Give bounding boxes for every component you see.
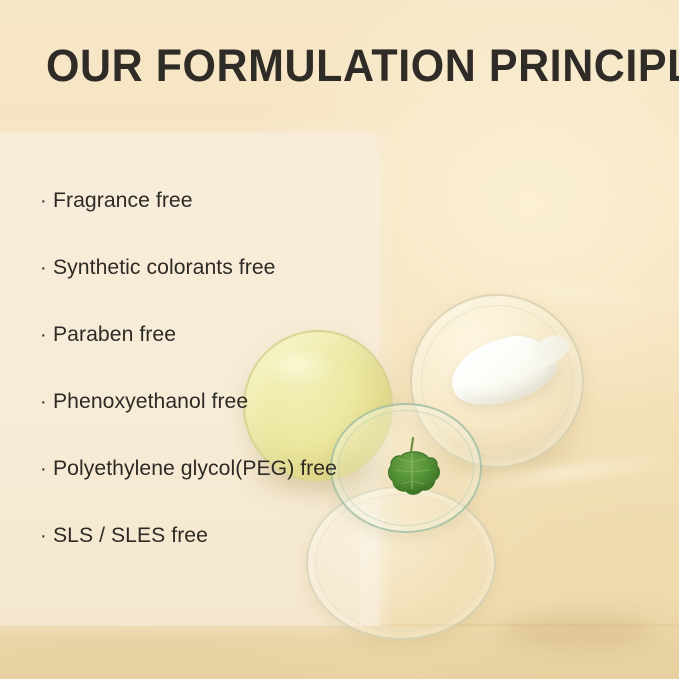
list-item: · Fragrance free: [40, 188, 380, 255]
principles-list: · Fragrance free · Synthetic colorants f…: [40, 188, 380, 590]
list-item: · SLS / SLES free: [40, 523, 380, 590]
principle-label: Synthetic colorants free: [53, 255, 275, 280]
page-title: OUR FORMULATION PRINCIPLES: [46, 40, 679, 92]
principle-label: Phenoxyethanol free: [53, 389, 248, 414]
bullet-icon: ·: [40, 191, 53, 211]
list-item: · Paraben free: [40, 322, 380, 389]
bullet-icon: ·: [40, 392, 53, 412]
principle-label: Fragrance free: [53, 188, 193, 213]
bullet-icon: ·: [40, 459, 53, 479]
formulation-principles-graphic: OUR FORMULATION PRINCIPLES · Fragrance f…: [0, 0, 679, 679]
principle-label: Polyethylene glycol(PEG) free: [53, 456, 337, 481]
principle-label: Paraben free: [53, 322, 176, 347]
bullet-icon: ·: [40, 258, 53, 278]
green-leaf-icon: [378, 432, 448, 508]
list-item: · Synthetic colorants free: [40, 255, 380, 322]
list-item: · Polyethylene glycol(PEG) free: [40, 456, 380, 523]
bullet-icon: ·: [40, 325, 53, 345]
principle-label: SLS / SLES free: [53, 523, 208, 548]
list-item: · Phenoxyethanol free: [40, 389, 380, 456]
bullet-icon: ·: [40, 526, 53, 546]
